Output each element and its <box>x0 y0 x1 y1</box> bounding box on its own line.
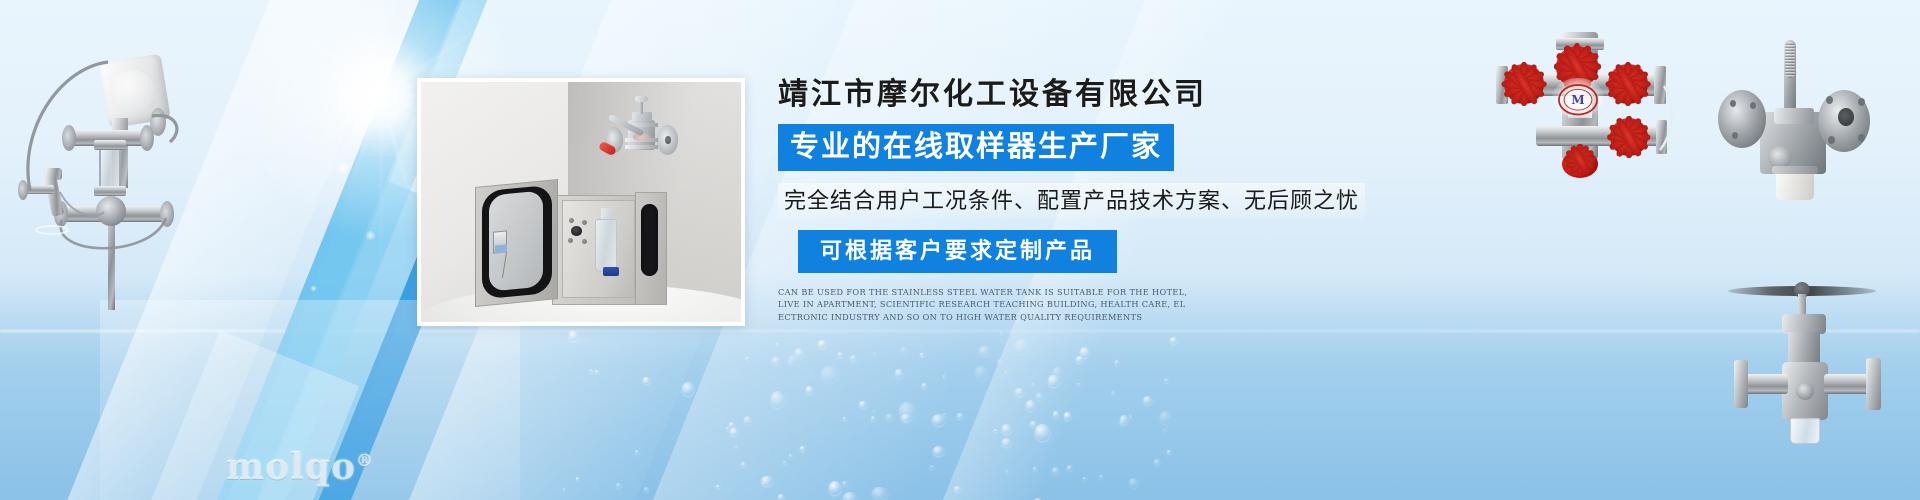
water-droplet <box>895 369 903 378</box>
water-droplet <box>772 357 780 364</box>
water-droplet <box>726 427 729 430</box>
water-droplet <box>778 494 784 500</box>
water-droplet <box>1067 465 1072 471</box>
body-logo-icon <box>1796 382 1814 400</box>
sample-bottle-cap <box>603 267 619 277</box>
water-droplet <box>871 416 875 421</box>
sampler-valve-assembly <box>600 96 683 197</box>
water-droplet <box>843 417 846 420</box>
cabinet-side-window <box>641 204 659 276</box>
water-droplet <box>818 340 827 348</box>
right-lower-equipment-image <box>1724 262 1919 447</box>
banner-text-block: 靖江市摩尔化工设备有限公司 专业的在线取样器生产厂家 完全结合用户工况条件、配置… <box>778 74 1390 323</box>
water-droplet <box>1115 360 1119 365</box>
water-droplet <box>1129 478 1138 488</box>
water-droplet <box>873 352 876 355</box>
water-droplet <box>716 485 720 488</box>
water-droplet <box>643 377 650 384</box>
water-droplet <box>569 330 578 341</box>
water-droplet <box>1163 429 1166 432</box>
water-droplet <box>1064 412 1071 420</box>
english-description: CAN BE USED FOR THE STAINLESS STEEL WATE… <box>778 286 1190 323</box>
registered-mark-icon: ® <box>356 451 374 471</box>
water-droplet <box>800 446 805 451</box>
water-droplet <box>741 462 746 467</box>
water-droplet <box>994 429 997 432</box>
tubing <box>0 20 200 310</box>
water-droplet <box>1048 375 1059 387</box>
water-droplet <box>789 454 792 458</box>
water-droplet <box>975 366 987 380</box>
water-droplet <box>922 383 926 388</box>
water-droplet <box>901 347 907 352</box>
water-droplet <box>873 410 875 412</box>
water-droplet <box>635 450 639 454</box>
water-droplet <box>979 346 990 356</box>
water-droplet <box>616 483 621 488</box>
water-droplet <box>829 481 841 495</box>
water-droplet <box>933 446 944 456</box>
water-droplet <box>872 487 888 500</box>
door-latch-tag <box>495 245 507 254</box>
water-droplet <box>1053 411 1059 418</box>
water-droplet <box>921 345 923 347</box>
water-droplet <box>842 481 848 486</box>
water-droplet <box>595 370 599 373</box>
water-droplet <box>1052 467 1059 475</box>
water-droplet <box>1077 383 1080 385</box>
water-droplet <box>795 348 803 358</box>
right-upper-equipment-image <box>1690 28 1910 213</box>
company-name: 靖江市摩尔化工设备有限公司 <box>778 74 1390 116</box>
water-droplet <box>806 386 813 394</box>
water-droplet <box>821 366 838 383</box>
water-droplet <box>776 343 778 346</box>
water-droplet <box>1100 475 1102 478</box>
water-droplet <box>1033 467 1037 471</box>
tagline-highlight: 可根据客户要求定制产品 <box>798 230 1117 273</box>
flange-left-lower <box>1734 360 1748 408</box>
water-droplet <box>729 422 734 428</box>
water-droplet <box>1035 424 1050 441</box>
water-droplet <box>932 414 945 426</box>
water-droplet <box>589 369 594 373</box>
water-droplet <box>899 402 915 421</box>
water-droplet <box>1000 331 1003 334</box>
water-droplet <box>1143 396 1152 405</box>
water-droplet <box>644 487 649 492</box>
water-droplet <box>735 445 738 449</box>
water-droplets-overlay <box>560 330 1180 500</box>
water-droplet <box>746 357 749 360</box>
water-droplet <box>1002 424 1011 434</box>
sight-cup-lower <box>1790 418 1820 444</box>
water-droplet <box>730 428 738 436</box>
right-top-equipment-image: M <box>1478 22 1688 167</box>
water-droplet <box>1002 438 1011 447</box>
water-droplet <box>1032 383 1034 386</box>
water-droplet <box>920 353 924 356</box>
company-seal-icon: M <box>1552 78 1604 118</box>
subline: 完全结合用户工况条件、配置产品技术方案、无后顾之忧 <box>778 183 1365 219</box>
headline-highlight: 专业的在线取样器生产厂家 <box>778 124 1174 171</box>
water-droplet <box>771 391 784 408</box>
brand-watermark: molqo® <box>226 446 374 488</box>
water-droplet <box>1026 400 1035 411</box>
water-droplet <box>943 375 945 378</box>
water-droplet <box>843 492 857 500</box>
product-photo[interactable] <box>417 78 745 326</box>
water-droplet <box>1017 347 1019 349</box>
water-droplet <box>954 486 961 492</box>
nameplate-icon <box>1768 146 1792 168</box>
water-droplet <box>997 359 1002 364</box>
water-droplet <box>1006 470 1008 472</box>
water-droplet <box>1111 391 1115 395</box>
water-droplet <box>783 461 786 464</box>
water-droplet <box>1120 415 1128 424</box>
water-droplet <box>957 413 963 419</box>
water-droplet <box>576 477 579 481</box>
water-droplet <box>1005 371 1007 373</box>
sample-bottle <box>595 219 617 272</box>
water-droplet <box>1167 450 1171 454</box>
water-droplet <box>682 382 694 396</box>
water-droplet <box>1160 411 1171 424</box>
water-droplet <box>838 352 842 357</box>
water-droplet <box>1164 378 1169 383</box>
flange-left <box>1718 90 1766 148</box>
water-droplet <box>744 416 751 425</box>
water-droplet <box>1015 388 1024 396</box>
left-equipment-image <box>0 20 200 310</box>
water-droplet <box>1154 459 1160 465</box>
water-droplet <box>1129 415 1132 419</box>
water-droplet <box>886 414 893 420</box>
sample-cup <box>1776 170 1814 200</box>
water-droplet <box>943 413 946 416</box>
water-droplet <box>859 401 867 408</box>
water-droplet <box>563 488 565 490</box>
water-droplet <box>1076 356 1083 363</box>
svg-text:M: M <box>1571 93 1584 107</box>
cabinet-port <box>571 226 581 236</box>
water-droplet <box>1036 393 1043 400</box>
water-droplet <box>1170 337 1177 344</box>
water-droplet <box>850 355 857 361</box>
water-droplet <box>930 465 934 469</box>
promotional-banner: M <box>0 0 1920 500</box>
water-droplet <box>1083 477 1086 481</box>
flange-right-lower <box>1866 358 1881 410</box>
watermark-text: molqo <box>226 446 356 488</box>
